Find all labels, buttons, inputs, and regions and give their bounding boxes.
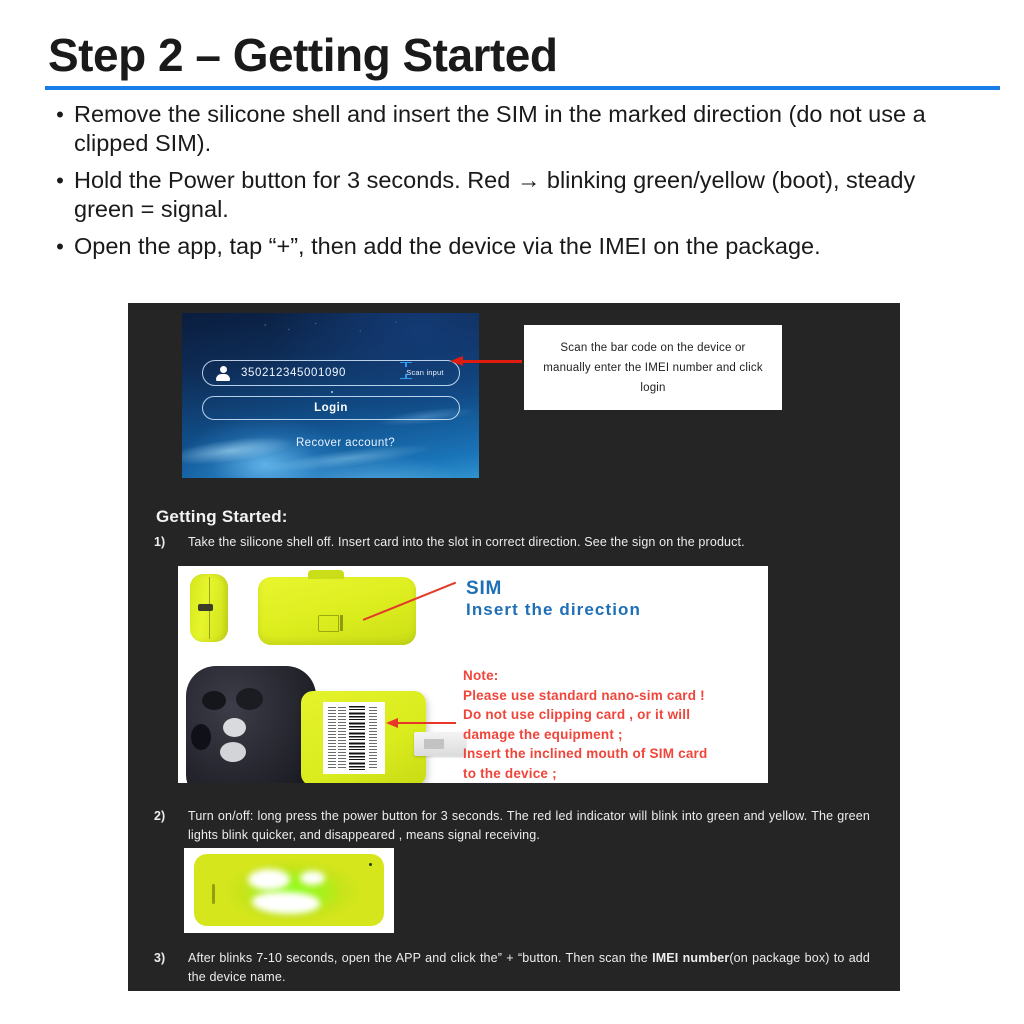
sim-pointer-line-icon (363, 599, 458, 639)
app-login-screenshot: 350212345001090 Scan input Login Recover… (182, 313, 479, 478)
power-on-photo (184, 848, 394, 933)
step3-text-bold: IMEI number (652, 951, 729, 965)
bullet-text: Hold the Power button for 3 seconds. Red… (74, 166, 976, 224)
note-line: Do not use clipping card , or it will (463, 705, 763, 725)
person-icon (215, 365, 231, 381)
note-line: damage the equipment ; (463, 725, 763, 745)
list-item: • Hold the Power button for 3 seconds. R… (46, 166, 976, 224)
sim-callout-subtitle: Insert the direction (466, 600, 641, 620)
bullet-text: Remove the silicone shell and insert the… (74, 100, 976, 158)
silicone-shell-image (186, 666, 316, 783)
callout-text: Scan the bar code on the device or manua… (538, 338, 768, 398)
device-side-view-image (190, 574, 228, 642)
barcode-label (323, 702, 385, 774)
login-button[interactable]: Login (202, 396, 460, 420)
manual-step-3: 3) After blinks 7-10 seconds, open the A… (154, 949, 870, 987)
bullet-text: Open the app, tap “+”, then add the devi… (74, 232, 976, 261)
imei-input-value: 350212345001090 (241, 367, 346, 379)
bullet-list: • Remove the silicone shell and insert t… (46, 100, 976, 269)
sim-insertion-photo: SIM Insert the direction Note: Please us… (178, 566, 768, 783)
imei-input[interactable]: 350212345001090 Scan input (202, 360, 460, 386)
device-front-image (301, 691, 426, 783)
note-arrow-icon (386, 718, 456, 728)
recover-account-link[interactable]: Recover account? (182, 437, 479, 449)
bullet-marker-icon: • (46, 166, 74, 195)
step-text: After blinks 7-10 seconds, open the APP … (188, 949, 870, 987)
bullet-marker-icon: • (46, 232, 74, 261)
scan-input-button[interactable]: Scan input (400, 362, 450, 380)
step-text: Take the silicone shell off. Insert card… (188, 533, 870, 552)
getting-started-heading: Getting Started: (156, 507, 288, 527)
glowing-device-image (194, 854, 384, 926)
step-number: 3) (154, 949, 188, 987)
bullet-marker-icon: • (46, 100, 74, 129)
step3-text-before: After blinks 7-10 seconds, open the APP … (188, 951, 652, 965)
note-line: Insert the inclined mouth of SIM card (463, 744, 763, 764)
starfield-decoration (182, 313, 479, 343)
sim-card-image (414, 732, 466, 756)
manual-step-1: 1) Take the silicone shell off. Insert c… (154, 533, 870, 552)
title-underline-rule (45, 86, 1000, 90)
callout-box: Scan the bar code on the device or manua… (524, 325, 782, 410)
manual-screenshot-panel: 350212345001090 Scan input Login Recover… (128, 303, 900, 991)
list-item: • Remove the silicone shell and insert t… (46, 100, 976, 158)
sim-callout-title: SIM (466, 578, 502, 600)
note-block: Note: Please use standard nano-sim card … (463, 666, 763, 783)
note-line: Note: (463, 666, 763, 686)
list-item: • Open the app, tap “+”, then add the de… (46, 232, 976, 261)
page-title: Step 2 – Getting Started (48, 28, 557, 82)
sim-slot-marking (318, 615, 339, 632)
step-number: 2) (154, 807, 188, 845)
step-number: 1) (154, 533, 188, 552)
manual-step-2: 2) Turn on/off: long press the power but… (154, 807, 870, 845)
callout-arrow-icon (450, 356, 522, 366)
note-line: to the device ; (463, 764, 763, 784)
note-line: Please use standard nano-sim card ! (463, 686, 763, 706)
separator-dot (331, 391, 333, 393)
step-text: Turn on/off: long press the power button… (188, 807, 870, 845)
led-indicator (369, 863, 372, 866)
